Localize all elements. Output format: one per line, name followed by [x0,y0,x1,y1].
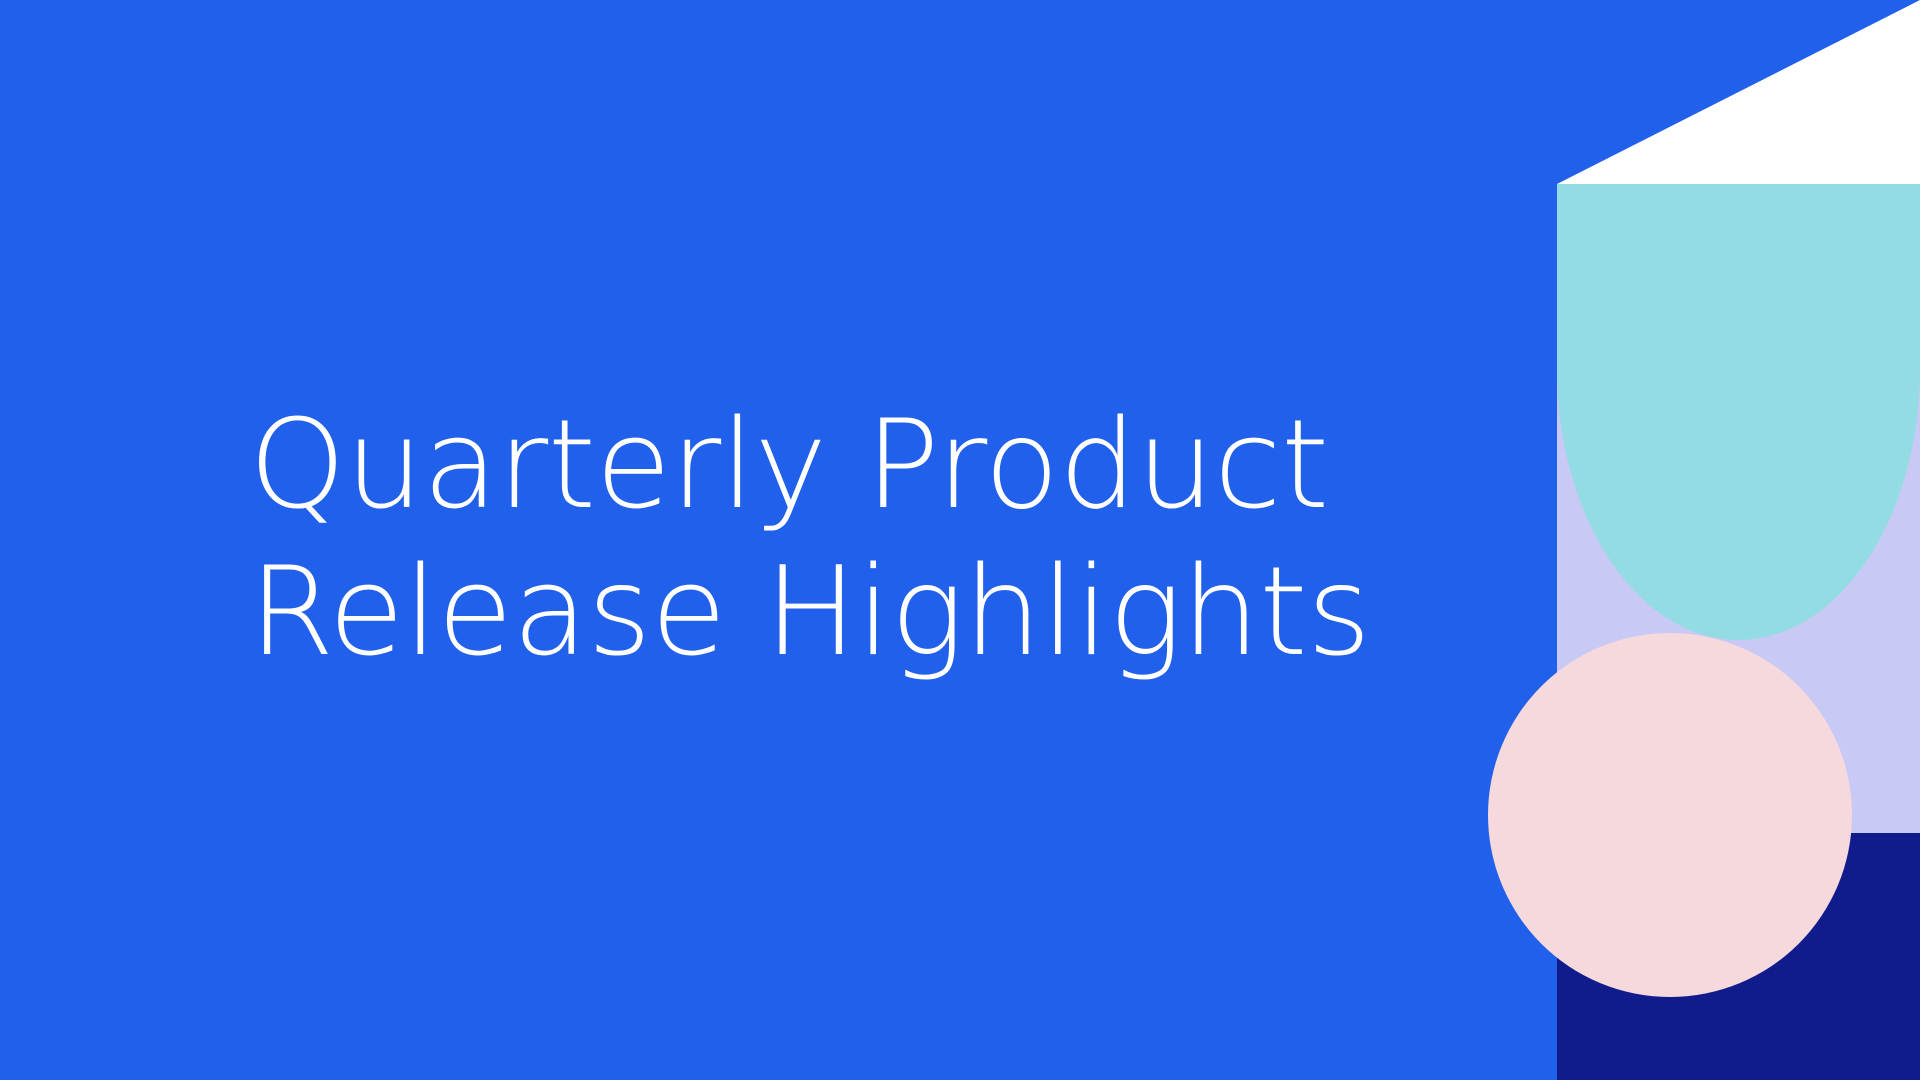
decorative-shape-cluster [1557,0,1920,1080]
title-line-1: Quarterly Product [249,392,1299,539]
page-title: Quarterly Product Release Highlights [249,392,1299,686]
white-wedge-shape [1557,0,1920,184]
title-slide: Quarterly Product Release Highlights [0,0,1920,1080]
pink-circle-shape [1488,633,1852,997]
title-line-2: Release Highlights [249,539,1299,686]
